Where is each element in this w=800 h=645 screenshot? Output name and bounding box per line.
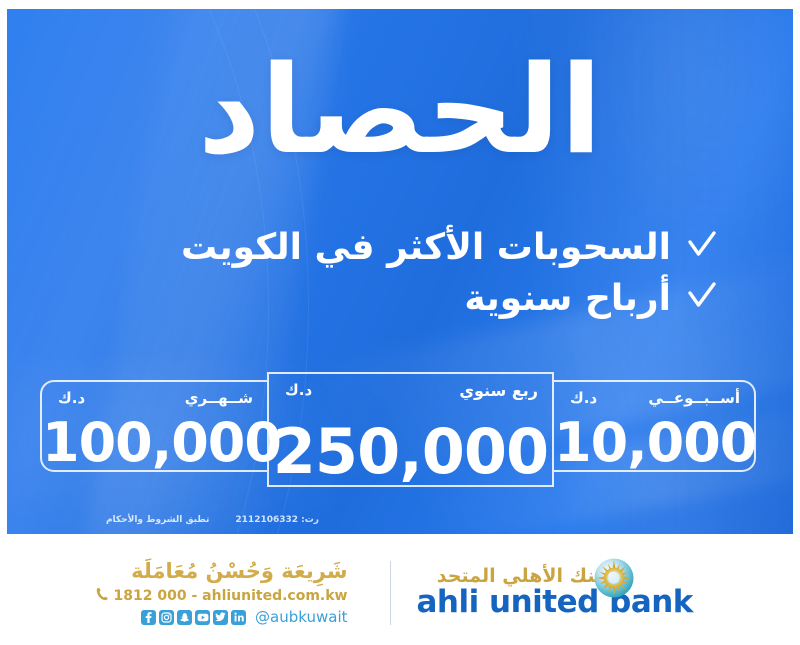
linkedin-icon[interactable] — [231, 610, 246, 625]
prize-tier-weekly: أســبــوعــي د.ك 10,000 — [554, 380, 756, 472]
bank-logo: البنك الأهلي المتحد ahli united bank — [407, 565, 677, 619]
prize-period-label: شــهــري — [185, 389, 253, 407]
prize-tier-monthly: شــهــري د.ك 100,000 — [40, 380, 267, 472]
twitter-icon[interactable] — [213, 610, 228, 625]
facebook-icon[interactable] — [141, 610, 156, 625]
benefits-list: السحوبات الأكثر في الكويت أرباح سنوية — [77, 225, 717, 327]
check-icon — [687, 280, 717, 318]
poster-canvas: الحصاد السحوبات الأكثر في الكويت أرباح س… — [0, 0, 800, 645]
prize-amount: 100,000 — [42, 416, 267, 470]
prize-tier-quarterly: ربع سنوي د.ك 250,000 — [267, 372, 554, 487]
benefit-item: السحوبات الأكثر في الكويت — [77, 225, 717, 270]
prize-tiers: شــهــري د.ك 100,000 ربع سنوي د.ك 250,00… — [7, 372, 793, 492]
footer-divider — [390, 561, 391, 625]
terms-note: تطبق الشروط والأحكام — [106, 515, 209, 525]
instagram-icon[interactable] — [159, 610, 174, 625]
bank-logo-mark-icon — [593, 557, 635, 599]
hero-panel: الحصاد السحوبات الأكثر في الكويت أرباح س… — [7, 9, 793, 534]
youtube-icon[interactable] — [195, 610, 210, 625]
footer-phone-row[interactable]: 1812 000 - ahliunited.com.kw — [124, 586, 348, 605]
prize-amount: 250,000 — [269, 421, 552, 483]
check-icon — [687, 229, 717, 267]
prize-period-label: أســبــوعــي — [648, 389, 740, 407]
registration-number: رت: 2112106332 — [235, 515, 319, 525]
prize-period-label: ربع سنوي — [459, 381, 538, 400]
prize-currency-label: د.ك — [58, 389, 85, 407]
footer: شَرِيعَة وَحُسْنُ مُعَامَلَة 1812 000 - … — [0, 540, 800, 645]
footer-contact-block: شَرِيعَة وَحُسْنُ مُعَامَلَة 1812 000 - … — [124, 559, 374, 626]
prize-amount: 10,000 — [554, 416, 754, 470]
prize-currency-label: د.ك — [285, 381, 312, 399]
bank-name-english: ahli united bank — [417, 585, 677, 619]
fine-print: رت: 2112106332 تطبق الشروط والأحكام — [19, 511, 319, 529]
footer-slogan: شَرِيعَة وَحُسْنُ مُعَامَلَة — [124, 559, 348, 583]
phone-icon — [96, 586, 109, 605]
campaign-title: الحصاد — [7, 49, 793, 171]
footer-social-handle[interactable]: @aubkuwait — [255, 608, 347, 626]
snapchat-icon[interactable] — [177, 610, 192, 625]
benefit-item: أرباح سنوية — [77, 276, 717, 321]
footer-social-row: @aubkuwait — [124, 608, 348, 626]
footer-phone-website[interactable]: 1812 000 - ahliunited.com.kw — [114, 588, 348, 604]
prize-currency-label: د.ك — [570, 389, 597, 407]
benefit-label: أرباح سنوية — [464, 276, 671, 321]
benefit-label: السحوبات الأكثر في الكويت — [181, 225, 671, 270]
